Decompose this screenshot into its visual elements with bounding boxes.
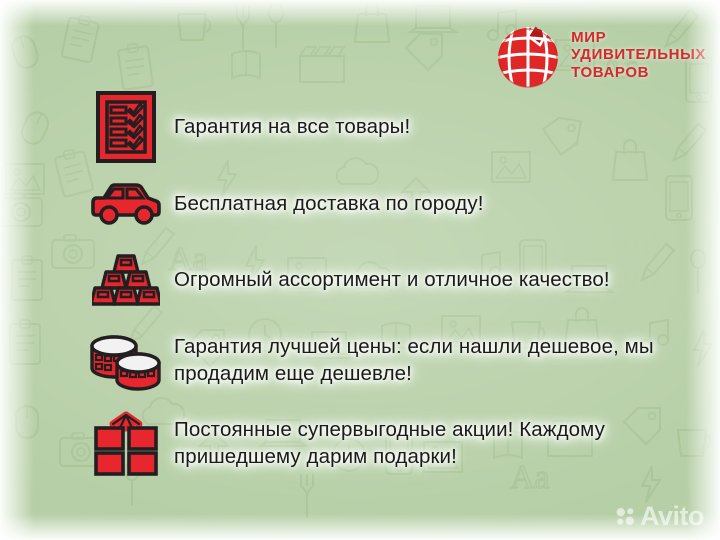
brand-wordmark: МИР УДИВИТЕЛЬНЫХ ТОВАРОВ xyxy=(571,24,706,81)
coin-stacks-icon xyxy=(89,330,163,392)
avito-label: Avito xyxy=(640,503,704,530)
red-globe-icon xyxy=(495,24,561,90)
brand-line-3: ТОВАРОВ xyxy=(571,64,706,81)
brand-line-1: МИР xyxy=(571,29,706,46)
feature-list: Гарантия на все товары! Бесплатная доста… xyxy=(78,86,698,486)
gold-bars-stack-icon xyxy=(92,251,160,309)
feature-icon-slot xyxy=(78,330,174,392)
feature-text: Бесплатная доставка по городу! xyxy=(174,191,698,218)
gift-box-icon xyxy=(93,411,159,477)
car-icon xyxy=(90,182,162,226)
brand-logo: МИР УДИВИТЕЛЬНЫХ ТОВАРОВ xyxy=(495,24,706,90)
feature-icon-slot xyxy=(78,91,174,163)
feature-row-best-price: Гарантия лучшей цены: если нашли дешевое… xyxy=(78,320,698,402)
avito-watermark: Avito xyxy=(616,503,704,530)
promo-poster: Aa xyxy=(0,0,720,540)
feature-icon-slot xyxy=(78,251,174,309)
feature-row-promotions: Постоянные супервыгодные акции! Каждому … xyxy=(78,402,698,486)
feature-row-warranty: Гарантия на все товары! xyxy=(78,86,698,168)
brand-line-2: УДИВИТЕЛЬНЫХ xyxy=(571,46,706,63)
feature-text: Огромный ассортимент и отличное качество… xyxy=(174,267,698,294)
feature-text: Постоянные супервыгодные акции! Каждому … xyxy=(174,417,698,470)
feature-icon-slot xyxy=(78,411,174,477)
checklist-clipboard-icon xyxy=(96,91,156,163)
feature-text: Гарантия на все товары! xyxy=(174,114,698,141)
feature-row-assortment: Огромный ассортимент и отличное качество… xyxy=(78,240,698,320)
avito-dots-icon xyxy=(616,507,635,526)
feature-icon-slot xyxy=(78,182,174,226)
feature-text: Гарантия лучшей цены: если нашли дешевое… xyxy=(174,334,698,387)
feature-row-delivery: Бесплатная доставка по городу! xyxy=(78,168,698,240)
